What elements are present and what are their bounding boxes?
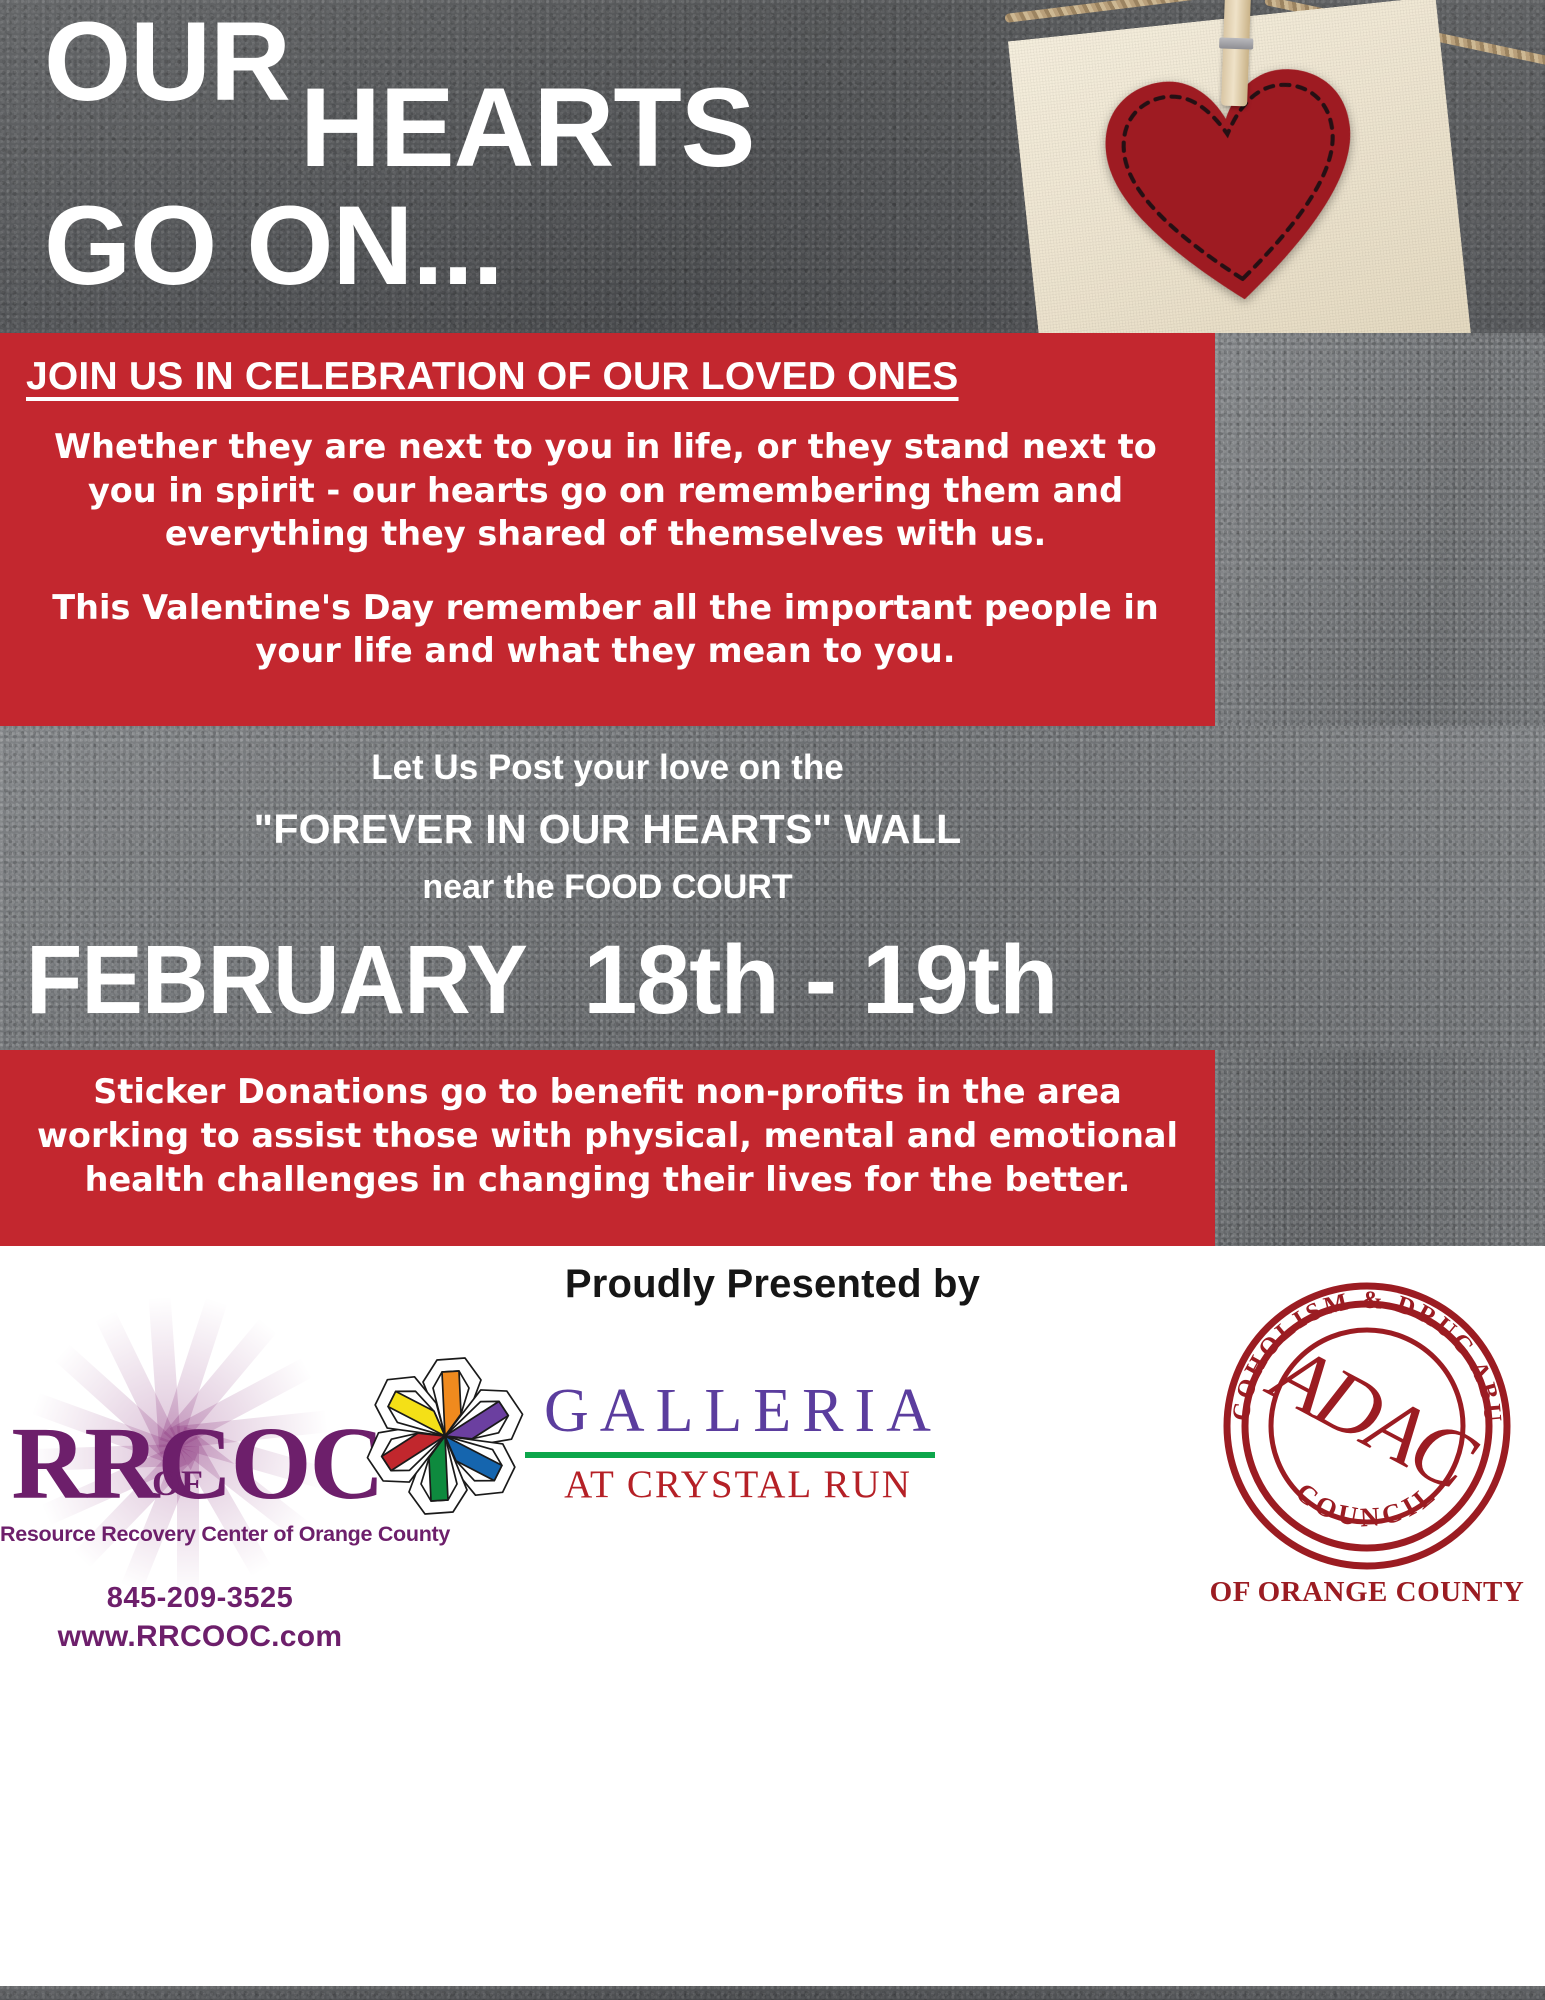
event-date-month: FEBRUARY: [26, 924, 527, 1036]
galleria-divider: [525, 1452, 935, 1458]
galleria-gem-icon: [345, 1336, 545, 1536]
donations-red-band: Sticker Donations go to benefit non-prof…: [0, 1050, 1215, 1246]
galleria-wordmark: GALLERIA: [533, 1380, 953, 1442]
event-date: FEBRUARY18th - 19th: [26, 924, 1215, 1036]
rrcoc-logo: RRCOC OF Resource Recovery Center of Ora…: [0, 1294, 400, 1714]
celebration-red-band: JOIN US IN CELEBRATION OF OUR LOVED ONES…: [0, 333, 1215, 726]
footer-section: Proudly Presented by RRCO: [0, 1246, 1545, 2000]
adac-seal-icon: ALCOHOLISM & DRUG ABUSE COUNCIL ADAC: [1217, 1276, 1517, 1576]
header-section: OUR HEARTS GO ON...: [0, 0, 1545, 334]
galleria-subtitle: AT CRYSTAL RUN: [533, 1462, 943, 1507]
rrcoc-phone[interactable]: 845-209-3525: [0, 1582, 400, 1615]
adac-logo: ALCOHOLISM & DRUG ABUSE COUNCIL ADAC OF …: [1207, 1276, 1527, 1676]
page-title-line3: GO ON...: [44, 190, 503, 302]
rrcoc-website-link[interactable]: www.RRCOOC.com: [0, 1620, 400, 1654]
details-wall-name: "FOREVER IN OUR HEARTS" WALL: [0, 806, 1215, 853]
event-details-section: Let Us Post your love on the "FOREVER IN…: [0, 726, 1545, 1050]
celebration-heading: JOIN US IN CELEBRATION OF OUR LOVED ONES: [26, 355, 1185, 399]
flyer-poster: OUR HEARTS GO ON... JOIN US IN CELEBRATI…: [0, 0, 1545, 2000]
rrcoc-tagline: Resource Recovery Center of Orange Count…: [0, 1522, 400, 1547]
donations-paragraph: Sticker Donations go to benefit non-prof…: [26, 1070, 1189, 1203]
page-title-line2: HEARTS: [300, 72, 754, 184]
celebration-paragraph-1: Whether they are next to you in life, or…: [26, 425, 1185, 556]
adac-subtitle: OF ORANGE COUNTY: [1207, 1576, 1527, 1609]
celebration-paragraph-2: This Valentine's Day remember all the im…: [26, 586, 1185, 673]
footer-bottom-strip: [0, 1986, 1545, 2000]
page-title-line1: OUR: [44, 6, 290, 118]
details-location: near the FOOD COURT: [0, 868, 1215, 907]
header-title-block: OUR HEARTS GO ON...: [0, 0, 1545, 334]
event-date-days: 18th - 19th: [583, 925, 1057, 1034]
rrcoc-of-label: OF: [152, 1462, 204, 1504]
galleria-logo: GALLERIA AT CRYSTAL RUN: [345, 1336, 955, 1586]
details-line-1: Let Us Post your love on the: [0, 748, 1215, 788]
